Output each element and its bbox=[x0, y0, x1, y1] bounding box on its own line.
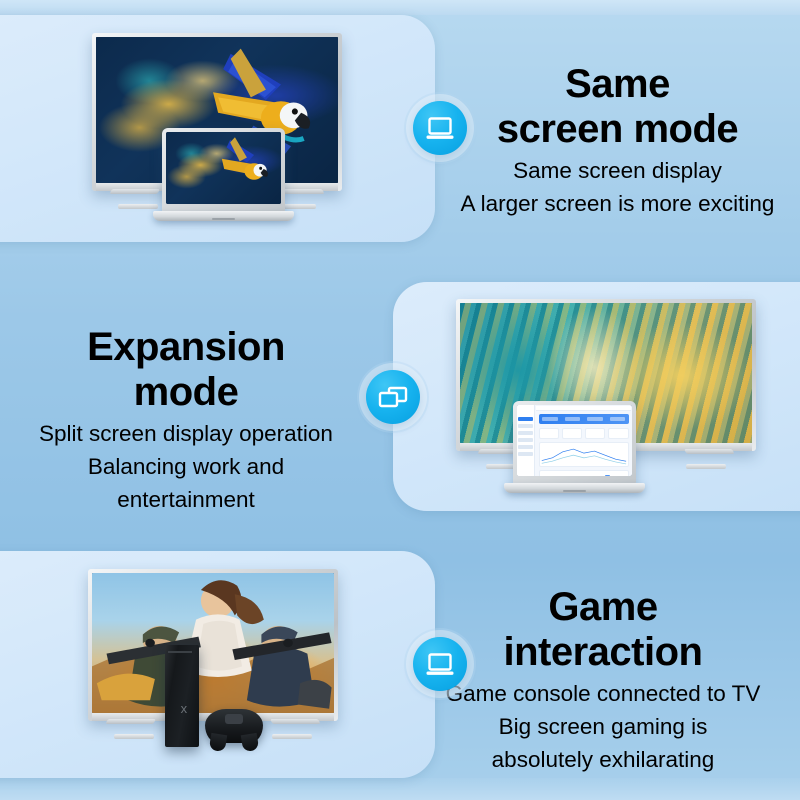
laptop-device bbox=[162, 128, 285, 221]
mirror-screen-icon[interactable] bbox=[413, 637, 467, 691]
dashboard-body bbox=[535, 405, 632, 476]
playstation-logo-icon: x bbox=[181, 702, 186, 714]
section-title-line2: screen mode bbox=[497, 107, 738, 151]
section-desc-line2: A larger screen is more exciting bbox=[440, 189, 795, 218]
section-title-line2: interaction bbox=[504, 630, 703, 674]
laptop-base bbox=[504, 483, 644, 493]
extend-screen-icon[interactable] bbox=[366, 370, 420, 424]
controller-grip-right bbox=[241, 733, 259, 752]
artwork-same-screen bbox=[92, 33, 342, 223]
console-disc-slot bbox=[168, 651, 191, 653]
section-desc-line1: Game console connected to TV bbox=[410, 679, 796, 708]
text-block-same-screen-mode: Same screen mode Same screen display A l… bbox=[440, 62, 795, 218]
laptop-lid bbox=[162, 128, 285, 212]
section-title-line1: Same bbox=[565, 62, 670, 106]
section-desc-line2: Balancing work and bbox=[6, 452, 366, 481]
feature-panel-same-screen-mode bbox=[0, 15, 435, 242]
mirror-screen-glyph bbox=[425, 651, 455, 677]
television-device bbox=[88, 569, 338, 721]
section-title-line2: mode bbox=[134, 370, 239, 414]
extend-screen-glyph bbox=[378, 385, 408, 409]
text-block-expansion-mode: Expansion mode Split screen display oper… bbox=[6, 325, 366, 514]
section-desc-line2: Big screen gaming is bbox=[410, 712, 796, 741]
game-console-device: x bbox=[165, 645, 199, 747]
tv-leg-right bbox=[270, 719, 318, 739]
tv-leg-left bbox=[112, 189, 160, 209]
bottom-edge-band bbox=[0, 778, 800, 800]
section-desc-line1: Same screen display bbox=[440, 156, 795, 185]
game-controller-device bbox=[205, 709, 263, 743]
dashboard-sidebar bbox=[517, 405, 535, 476]
feature-panel-game-interaction: x bbox=[0, 551, 435, 778]
section-desc-line1: Split screen display operation bbox=[6, 419, 366, 448]
macaw-icon-mirrored bbox=[217, 136, 277, 199]
laptop-lid bbox=[513, 401, 636, 484]
dashboard-bar-chart bbox=[539, 470, 629, 476]
game-characters-icon bbox=[92, 573, 334, 713]
dashboard-banner bbox=[539, 414, 629, 424]
laptop-device bbox=[513, 401, 636, 493]
dashboard-artwork bbox=[517, 405, 632, 476]
artwork-game: x bbox=[88, 569, 338, 764]
artwork-expansion bbox=[456, 299, 756, 499]
dashboard-topbar bbox=[536, 406, 631, 412]
laptop-base bbox=[153, 211, 293, 221]
top-edge-band bbox=[0, 0, 800, 15]
section-desc-line3: entertainment bbox=[6, 485, 366, 514]
section-desc-line3: absolutely exhilarating bbox=[410, 745, 796, 774]
feature-panel-expansion-mode bbox=[393, 282, 800, 511]
laptop-screen bbox=[517, 405, 632, 476]
controller-touchpad bbox=[225, 714, 244, 724]
laptop-screen bbox=[166, 132, 281, 204]
section-title-line1: Game bbox=[548, 585, 657, 629]
tv-screen bbox=[92, 573, 334, 713]
tv-leg-right bbox=[684, 449, 732, 469]
section-title-line1: Expansion bbox=[87, 325, 285, 369]
dashboard-stat-cards bbox=[539, 428, 629, 439]
mirror-screen-icon[interactable] bbox=[413, 101, 467, 155]
dashboard-line-chart bbox=[539, 442, 629, 467]
mirror-screen-glyph bbox=[425, 115, 455, 141]
text-block-game-interaction: Game interaction Game console connected … bbox=[410, 585, 796, 774]
tv-leg-left bbox=[108, 719, 156, 739]
controller-grip-left bbox=[209, 733, 227, 752]
promo-page: Same screen mode Same screen display A l… bbox=[0, 0, 800, 800]
